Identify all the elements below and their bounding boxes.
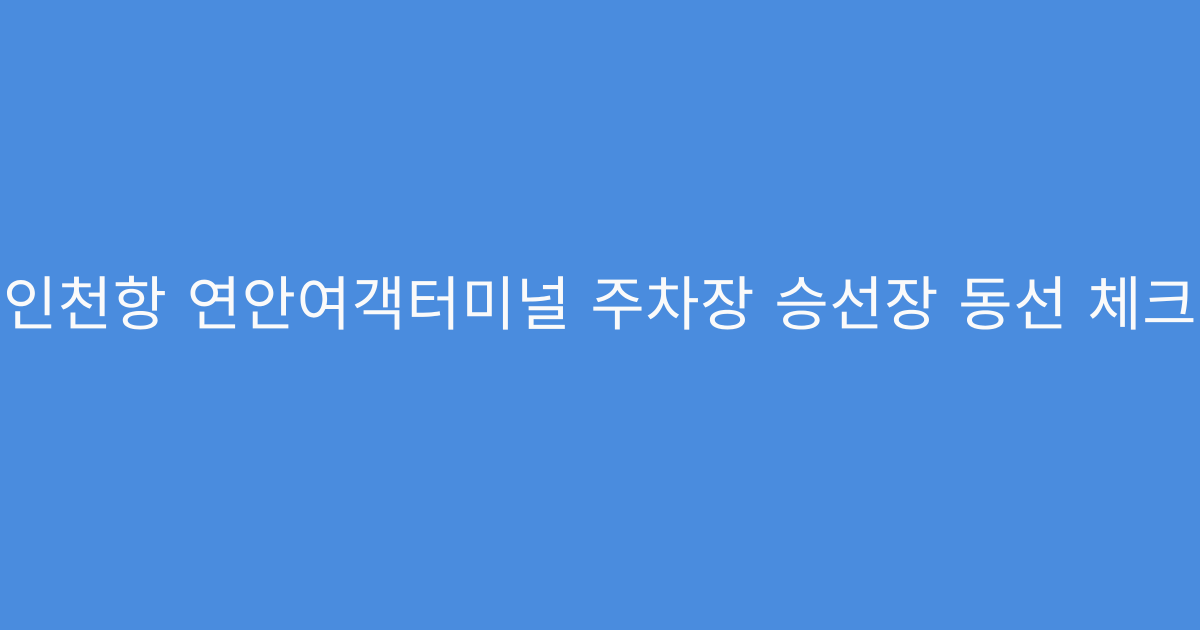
og-card: 인천항 연안여객터미널 주차장 승선장 동선 체크: [0, 0, 1200, 630]
page-title: 인천항 연안여객터미널 주차장 승선장 동선 체크: [3, 268, 1197, 342]
title-block: 인천항 연안여객터미널 주차장 승선장 동선 체크: [0, 268, 1200, 342]
